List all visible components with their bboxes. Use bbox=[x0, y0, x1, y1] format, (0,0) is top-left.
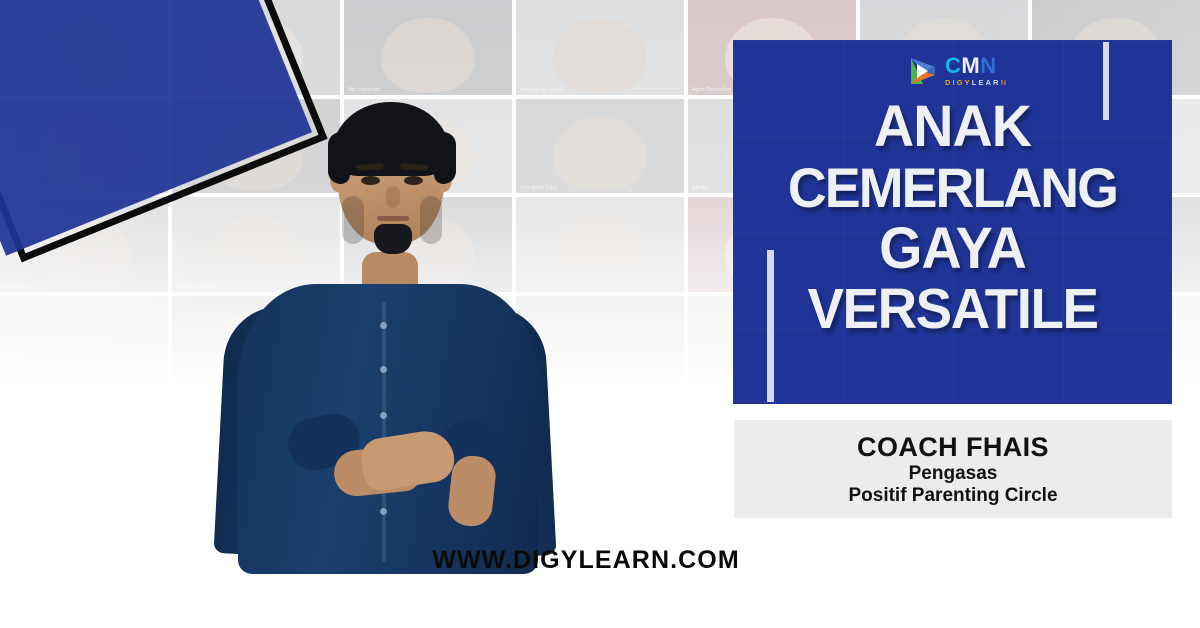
headline-line-2: CEMERLANG bbox=[742, 157, 1163, 218]
headline-text-block: ANAK CEMERLANG GAYA VERSATILE bbox=[733, 96, 1172, 340]
nose bbox=[386, 186, 400, 208]
goatee bbox=[374, 224, 412, 254]
logo-wordmark: CMN DIGYLEARN bbox=[945, 55, 1008, 87]
logo-name: CMN bbox=[945, 55, 1008, 77]
speaker-role: Pengasas bbox=[909, 463, 998, 485]
presenter-photo bbox=[214, 56, 554, 568]
left-eye bbox=[361, 176, 380, 185]
beard-shadow-left bbox=[342, 196, 364, 244]
headline-line-1: ANAK bbox=[742, 96, 1163, 157]
website-url-text: WWW.DIGYLEARN.COM bbox=[432, 546, 740, 575]
hair-side-left bbox=[328, 132, 350, 184]
shirt-button bbox=[380, 322, 387, 329]
logo-tagline: DIGYLEARN bbox=[945, 79, 1008, 87]
beard-shadow-right bbox=[420, 196, 442, 244]
speaker-panel: COACH FHAIS Pengasas Positif Parenting C… bbox=[734, 420, 1172, 518]
play-button-icon bbox=[906, 54, 940, 88]
shirt-button bbox=[380, 412, 387, 419]
headline-panel: CMN DIGYLEARN ANAK CEMERLANG GAYA VERSAT… bbox=[733, 40, 1172, 404]
headline-line-3: GAYA bbox=[742, 218, 1163, 279]
headline-line-4: VERSATILE bbox=[742, 279, 1163, 340]
website-url[interactable]: WWW.DIGYLEARN.COM bbox=[0, 546, 1200, 575]
hair-side-right bbox=[434, 132, 456, 184]
shirt-button bbox=[380, 366, 387, 373]
brand-logo: CMN DIGYLEARN bbox=[906, 54, 1008, 88]
right-eye bbox=[404, 176, 423, 185]
shirt-placket bbox=[382, 302, 386, 562]
promo-banner: Aina Maisarah Nur Alia Insyirah Nor Hasa… bbox=[0, 0, 1200, 628]
speaker-name: COACH FHAIS bbox=[857, 433, 1049, 462]
shirt-button bbox=[380, 508, 387, 515]
speaker-organisation: Positif Parenting Circle bbox=[848, 485, 1057, 507]
mouth bbox=[377, 216, 409, 221]
